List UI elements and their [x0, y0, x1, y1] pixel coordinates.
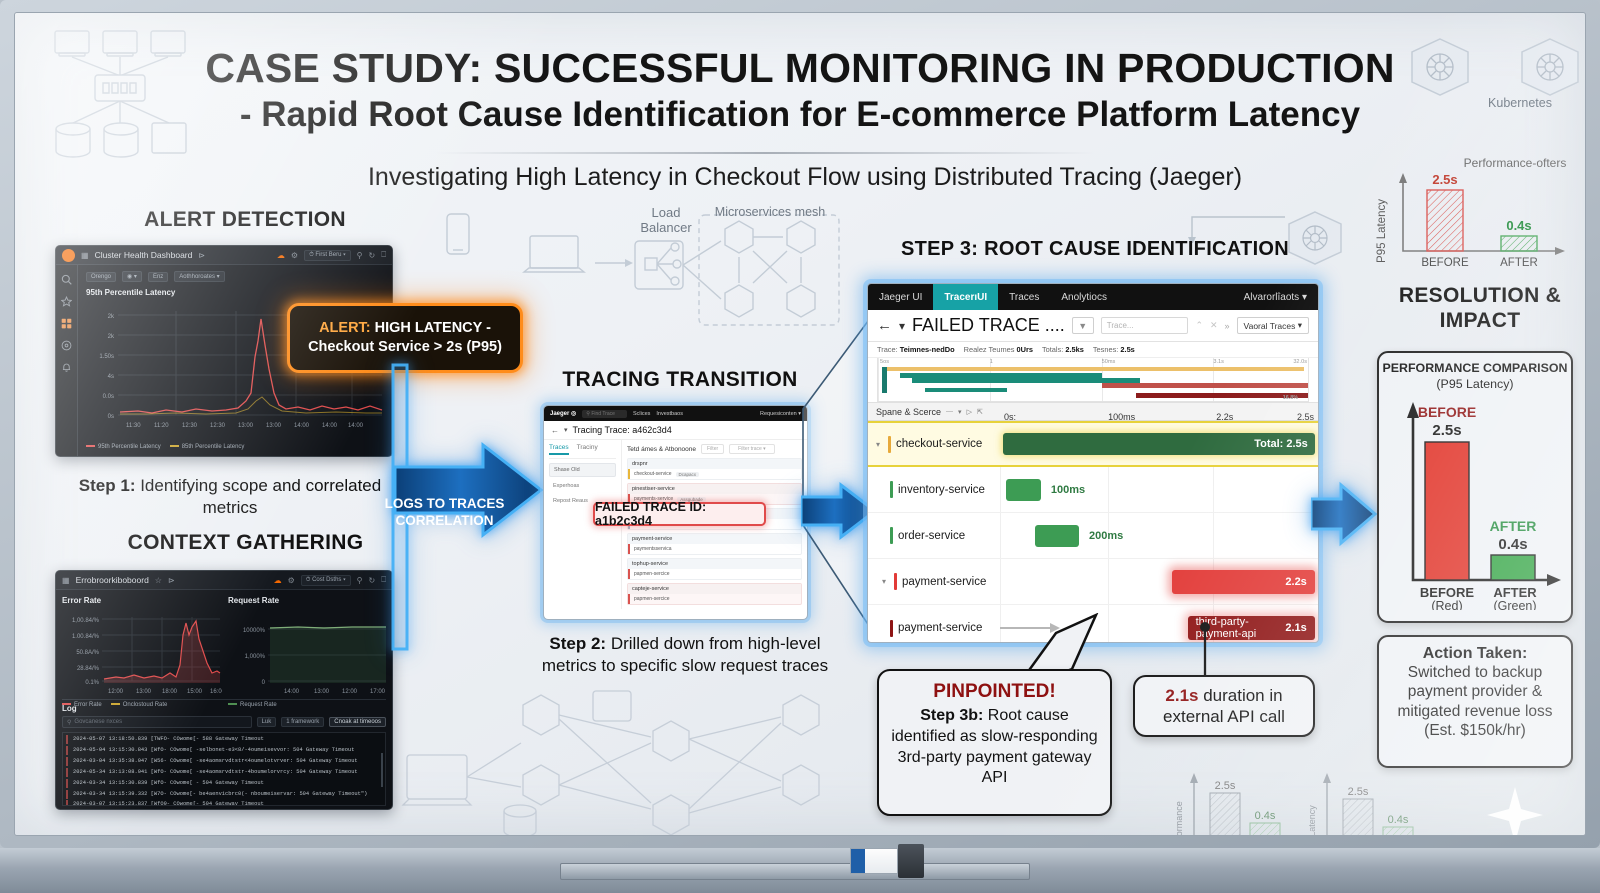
time-tick-1: 100ms: [1108, 412, 1135, 422]
star-icon[interactable]: [61, 294, 72, 305]
search-icon: ⚲: [67, 719, 71, 726]
time-range-picker[interactable]: ⏱ Cost Dsths ▾: [301, 575, 351, 586]
dashboard-sidebar[interactable]: [56, 265, 78, 456]
chevron-down-icon[interactable]: ▾: [876, 440, 883, 449]
panel-request-rate: Request Rate 10000% 1,000% 0 14:0013:00 …: [228, 596, 388, 708]
span-row-inventory[interactable]: inventory-service 100ms: [868, 467, 1318, 513]
legend-item-1: 85th Percentile Latency: [170, 444, 245, 450]
svg-text:13:00: 13:00: [314, 689, 330, 695]
alerting-icon[interactable]: [61, 360, 72, 371]
svg-text:2k: 2k: [108, 314, 115, 320]
chevron-down-icon[interactable]: ▾: [899, 319, 905, 333]
filter-icon[interactable]: ▼: [1072, 317, 1094, 334]
svg-text:BEFORE: BEFORE: [1418, 404, 1476, 420]
log-button-2[interactable]: Cnoak at timeoos: [329, 717, 386, 727]
svg-text:13:00: 13:00: [136, 689, 152, 695]
svg-text:2k: 2k: [108, 334, 115, 340]
svg-text:10000%: 10000%: [243, 628, 266, 634]
pinpointed-body: Step 3b: Root cause identified as slow-r…: [891, 706, 1098, 789]
grafana-logo-icon: [62, 249, 75, 262]
transition-subnav-0[interactable]: Shase Old: [549, 463, 616, 477]
section-tracing-transition: TRACING TRANSITION: [535, 368, 825, 392]
svg-text:0.4s: 0.4s: [1506, 218, 1531, 233]
span-label[interactable]: payment-service: [868, 620, 1000, 637]
column-header-label: Spane & Scerce: [876, 407, 941, 417]
span-connector-arrow: [1000, 622, 1062, 634]
resolution-bar-chart: BEFORE 2.5s AFTER 0.4s BEFORE AFTER (Red…: [1379, 392, 1573, 610]
span-bar: 2.2s: [1172, 570, 1315, 594]
prev-icon[interactable]: ⌃: [1195, 320, 1203, 331]
minimap-bar-span: [882, 367, 887, 393]
time-range-picker[interactable]: ⏱ First Beru ▾: [304, 250, 351, 261]
log-line: 2024-03-07 13:15:23.837 [WfO9- COwome[- …: [66, 800, 382, 806]
transition-account[interactable]: Requesiconten ▾: [760, 411, 801, 417]
section-resolution: RESOLUTION &IMPACT: [1355, 283, 1586, 333]
dashboard-filters[interactable]: Orengo ◉ ▾ Enz Aothhoroates ▾: [78, 265, 392, 286]
tab-analytics[interactable]: Anolytiocs: [1050, 284, 1118, 310]
jaeger-minimap[interactable]: 5os 1 50ms 3.1s 32.0s 16.8%: [877, 358, 1309, 402]
sparkle-icon: [1483, 783, 1547, 836]
step1-caption: Step 1: Identifying scope and correlated…: [65, 475, 395, 519]
jaeger-span-list[interactable]: ▾ checkout-service Total: 2.5s inventor: [868, 421, 1318, 643]
section-alert-detection: ALERT DETECTION: [95, 208, 395, 232]
cloud-icon[interactable]: ☁: [277, 251, 285, 260]
svg-text:15:00: 15:00: [187, 689, 203, 695]
transition-filterbar-label: Tetd ámes & Atbonoone: [627, 446, 696, 453]
svg-text:AFTER: AFTER: [1490, 518, 1537, 534]
title-divider: [435, 152, 1095, 154]
log-scrollbar[interactable]: [381, 753, 383, 787]
alert-line-1: ALERT: HIGH LATENCY -: [319, 319, 491, 338]
span-row-checkout[interactable]: ▾ checkout-service Total: 2.5s: [868, 421, 1318, 467]
duration-callout-text: 2.1s duration in external API call: [1145, 685, 1303, 728]
view-select[interactable]: Vaoral Traces ▾: [1237, 317, 1309, 334]
minimap-tick-2: 50ms: [1102, 359, 1116, 365]
transition-topbar: Jaeger ◎ ⚲ Find Trace Sclices Investbaos…: [544, 406, 807, 421]
log-search-input[interactable]: ⚲ Govcanese nxces: [62, 716, 252, 728]
chevron-down-icon[interactable]: ▾: [882, 577, 889, 586]
svg-text:50.8A/%: 50.8A/%: [76, 650, 99, 656]
chart-legend: 95th Percentile Latency 85th Percentile …: [86, 444, 384, 450]
request-rate-chart: 10000% 1,000% 0 14:0013:00 12:0017:00: [228, 605, 388, 697]
minimap-percent: 16.8%: [1283, 395, 1298, 401]
span-label[interactable]: ▾ checkout-service: [868, 436, 1000, 453]
svg-text:Performance: Performance: [1174, 801, 1184, 836]
duration-callout: 2.1s duration in external API call: [1133, 675, 1315, 737]
back-arrow-icon[interactable]: ←: [551, 426, 559, 435]
correlation-arrow-label: LOGS TO TRACESCORRELATION: [382, 496, 507, 530]
transition-subnav-1[interactable]: Experhoas: [549, 480, 616, 492]
jaeger-search-input[interactable]: Trace...: [1101, 317, 1189, 334]
time-tick-2: 2.2s: [1216, 412, 1233, 422]
zoom-icon[interactable]: ⚲: [357, 251, 363, 260]
marker[interactable]: [850, 848, 898, 874]
pinpointed-headline: PINPOINTED!: [891, 681, 1098, 703]
play-icon[interactable]: ▷: [967, 408, 972, 416]
minimap-bar-root: [882, 367, 1303, 371]
svg-text:14:00: 14:00: [284, 689, 300, 695]
jaeger-logo-label: Jaeger ◎: [550, 410, 576, 417]
panel-title-error-rate: Error Rate: [62, 596, 222, 605]
log-line: 2024-03-34 13:15:39.332 [W7O- COwome[- b…: [66, 790, 382, 799]
error-dashboard[interactable]: ▦ Errobroorkiboboord ☆ ⊳ ☁ ⚙ ⏱ Cost Dsth…: [55, 570, 393, 810]
cloud-icon[interactable]: ☁: [274, 576, 282, 585]
step2-caption: Step 2: Drilled down from high-level met…: [535, 633, 835, 678]
page-tagline: Investigating High Latency in Checkout F…: [215, 163, 1395, 192]
meta-realez: Realez Teumes 0Urs: [964, 345, 1033, 354]
span-bar: [1006, 479, 1041, 501]
search-icon[interactable]: [61, 272, 72, 283]
action-card-body: Switched to backup payment provider & mi…: [1388, 663, 1562, 741]
dash-icon[interactable]: —: [946, 408, 953, 415]
svg-text:(Red): (Red): [1431, 599, 1462, 610]
svg-text:0.1%: 0.1%: [85, 680, 99, 686]
tv-icon[interactable]: ⎕: [381, 575, 386, 585]
alert-line-2: Checkout Service > 2s (P95): [308, 338, 502, 357]
transition-row[interactable]: drspnr checkout-service Dcapacx: [627, 458, 802, 480]
svg-text:Performance-ofters: Performance-ofters: [1464, 156, 1567, 170]
svg-text:1.50s: 1.50s: [99, 354, 114, 360]
svg-text:1,000%: 1,000%: [245, 654, 266, 660]
log-line: 2024-05-04 13:15:30.843 [WfO- COwome[ -s…: [66, 746, 382, 755]
flow-arrow-right: [1311, 479, 1381, 549]
transition-nav-1[interactable]: Investbaos: [656, 411, 683, 417]
next-icon[interactable]: »: [1225, 321, 1230, 331]
page-subtitle: - Rapid Root Cause Identification for E-…: [175, 95, 1425, 135]
jaeger-column-header: Spane & Scerce — ▾ ▷ ⇱ 0s: 100ms 2.2s 2.…: [868, 402, 1318, 421]
svg-text:1,00.84/%: 1,00.84/%: [72, 618, 100, 624]
span-duration: 200ms: [1089, 530, 1123, 542]
transition-tab-traces[interactable]: Traces: [549, 444, 569, 455]
svg-text:2.5s: 2.5s: [1432, 422, 1461, 439]
filter-chip-settings[interactable]: ◉ ▾: [122, 271, 142, 282]
svg-text:BEFORE: BEFORE: [1420, 585, 1475, 600]
log-list[interactable]: 2024-05-07 13:18:50.839 [TWFO- COwome[- …: [62, 732, 386, 806]
svg-text:0.0s: 0.0s: [103, 394, 114, 400]
whiteboard-surface: LoadBalancer Microservices mesh Kubernet…: [14, 12, 1586, 836]
minimap-bar-span: [925, 388, 1007, 392]
account-menu[interactable]: Alvarorlîaots ▾: [1233, 284, 1318, 310]
span-row-third-party[interactable]: payment-service third-party-payment-api …: [868, 605, 1318, 643]
jaeger-trace-header: ← ▾ FAILED TRACE .... ▼ Trace... ⌃ ✕ » V…: [868, 310, 1318, 342]
latency-mini-chart: Latency 2.5s 0.4s BEFORE AFTER: [1293, 765, 1433, 836]
span-label[interactable]: order-service: [868, 527, 1000, 544]
svg-text:11:20: 11:20: [154, 423, 169, 429]
svg-text:0.4s: 0.4s: [1388, 814, 1409, 826]
svg-text:12:00: 12:00: [342, 689, 358, 695]
svg-text:BEFORE: BEFORE: [1421, 257, 1469, 269]
panel-error-rate: Error Rate 1,00.84/% 1.00.84/% 50.8A/% 2…: [62, 596, 222, 708]
transition-row[interactable]: capteje-service papmen-sercice: [627, 583, 802, 605]
svg-text:17:00: 17:00: [370, 689, 386, 695]
svg-text:14:00: 14:00: [294, 423, 310, 429]
svg-text:P95 Latency: P95 Latency: [1376, 199, 1388, 263]
span-bar: third-party-payment-api 2.1s: [1188, 616, 1315, 640]
svg-text:AFTER: AFTER: [1493, 585, 1537, 600]
log-button-1[interactable]: 1 framework: [281, 717, 324, 727]
tv-icon[interactable]: ⎕: [381, 250, 386, 260]
chevron-down-icon[interactable]: ▾: [958, 408, 962, 416]
svg-text:2.5s: 2.5s: [1215, 780, 1236, 792]
refresh-icon[interactable]: ↻: [368, 251, 375, 260]
dashboard-title: Cluster Health Dashboard: [95, 250, 193, 260]
action-taken-card: Action Taken: Switched to backup payment…: [1377, 635, 1573, 768]
whiteboard-tray: [0, 848, 1600, 893]
svg-text:14:00: 14:00: [348, 423, 364, 429]
section-context-gathering: CONTEXT GATHERING: [93, 531, 398, 555]
svg-text:13:00: 13:00: [266, 423, 282, 429]
log-line: 2024-05-07 13:18:50.839 [TWFO- COwome[- …: [66, 735, 382, 744]
tab-traces[interactable]: Traces: [998, 284, 1050, 310]
star-icon[interactable]: ☆: [155, 576, 162, 585]
share-icon[interactable]: ⊳: [198, 251, 205, 260]
transition-trace-header: ← ▾ Tracing Trace: a462c3d4: [544, 421, 807, 440]
jaeger-tabs[interactable]: Jaeger UI TracerıUI Traces Anolytiocs Al…: [868, 284, 1318, 310]
dashboard-topbar: ▦ Cluster Health Dashboard ⊳ ☁ ⚙ ⏱ First…: [56, 246, 392, 265]
minimap-tick-0: 5os: [880, 359, 889, 365]
settings-icon[interactable]: ⚙: [291, 251, 298, 260]
jaeger-trace-title: FAILED TRACE ....: [912, 315, 1065, 336]
minimap-tick-3: 3.1s: [1213, 359, 1224, 365]
section-step3: STEP 3: ROOT CAUSE IDENTIFICATION: [875, 238, 1315, 261]
explore-icon[interactable]: [61, 338, 72, 349]
tab-tracer-ui[interactable]: TracerıUI: [933, 284, 998, 310]
minimap-bar-span: [1102, 383, 1308, 388]
span-label[interactable]: inventory-service: [868, 481, 1000, 498]
share-icon[interactable]: ⊳: [168, 576, 175, 585]
reset-icon[interactable]: ⇱: [977, 408, 983, 416]
svg-text:11:30: 11:30: [126, 423, 141, 429]
log-title: Log: [62, 704, 386, 713]
panel-title-request-rate: Request Rate: [228, 596, 388, 605]
svg-text:0: 0: [262, 680, 266, 686]
svg-text:AFTER: AFTER: [1500, 257, 1538, 269]
span-bar: [1035, 525, 1080, 547]
microservices-mesh-label: Microservices mesh: [695, 205, 845, 219]
log-toolbar[interactable]: ⚲ Govcanese nxces Luk 1 framework Cnoak …: [62, 716, 386, 728]
log-line: 2024-05-34 13:13:08.941 [WfO- COwome[ -s…: [66, 768, 382, 777]
dashboard2-topbar: ▦ Errobroorkiboboord ☆ ⊳ ☁ ⚙ ⏱ Cost Dsth…: [56, 571, 392, 590]
span-row-order[interactable]: order-service 200ms: [868, 513, 1318, 559]
transition-row[interactable]: tophup-service papmen-sercice: [627, 558, 802, 580]
svg-text:12:30: 12:30: [182, 423, 198, 429]
transition-search-input[interactable]: ⚲ Find Trace: [582, 410, 627, 418]
error-rate-chart: 1,00.84/% 1.00.84/% 50.8A/% 28.84/% 0.1%…: [62, 605, 222, 697]
legend-item-0: 95th Percentile Latency: [86, 444, 161, 450]
time-tick-3: 2.5s: [1297, 412, 1314, 422]
svg-text:4s: 4s: [108, 374, 114, 380]
device-lineart: [433, 208, 503, 288]
jaeger-panel[interactable]: Jaeger UI TracerıUI Traces Anolytiocs Al…: [867, 283, 1319, 643]
svg-text:Latency: Latency: [1307, 805, 1317, 836]
grid-icon: ▦: [81, 251, 89, 260]
filter-chip-1[interactable]: Enz: [148, 272, 168, 282]
meta-tesnes: Tesnes: 2.5s: [1093, 345, 1135, 354]
span-label[interactable]: ▾ payment-service: [868, 573, 1000, 590]
transition-filter-select[interactable]: Filter trace ▾: [729, 444, 775, 454]
kubernetes-label: Kubernetes: [1455, 96, 1585, 110]
svg-text:1.00.84/%: 1.00.84/%: [72, 634, 100, 640]
performance-comparison-card: PERFORMANCE COMPARISON (P95 Latency) BEF…: [1377, 351, 1573, 623]
svg-text:12:30: 12:30: [210, 423, 226, 429]
back-arrow-icon[interactable]: ←: [877, 317, 892, 334]
resolution-card-title: PERFORMANCE COMPARISON (P95 Latency): [1379, 353, 1571, 392]
failed-trace-badge: FAILED TRACE ID: a1b2c3d4: [593, 502, 766, 526]
dashboard2-title: Errobroorkiboboord: [76, 575, 149, 585]
span-bar: Total: 2.5s: [1003, 433, 1315, 455]
meta-trace: Trace: Teimnes-nedDo: [877, 345, 955, 354]
minimap-tick-1: 1: [990, 359, 993, 365]
whiteboard-frame: LoadBalancer Microservices mesh Kubernet…: [0, 0, 1600, 848]
svg-text:2.5s: 2.5s: [1432, 172, 1457, 187]
transition-row[interactable]: payment-service paymentsservica: [627, 533, 802, 555]
tray-rail: [560, 863, 1030, 880]
flow-arrow-lineart: [1170, 203, 1290, 243]
panel-title-latency: 95th Percentile Latency: [86, 288, 384, 297]
svg-text:0.4s: 0.4s: [1498, 536, 1527, 553]
close-icon[interactable]: ✕: [1210, 320, 1218, 331]
minimap-bar-span: [900, 373, 1102, 378]
svg-text:0.4s: 0.4s: [1255, 810, 1276, 822]
svg-text:14:00: 14:00: [322, 423, 338, 429]
load-balancer-label: LoadBalancer: [631, 206, 701, 236]
span-duration: 100ms: [1051, 484, 1085, 496]
log-button-0[interactable]: Luk: [257, 717, 277, 727]
svg-text:28.84/%: 28.84/%: [77, 666, 100, 672]
minimap-bar-span: [912, 378, 1140, 383]
refresh-icon[interactable]: ↻: [368, 576, 375, 585]
transition-trace-title: Tracing Trace: a462c3d4: [573, 425, 672, 435]
filter-chip-0[interactable]: Orengo: [86, 272, 116, 282]
svg-text:12:00: 12:00: [108, 689, 124, 695]
transition-tab-tracing[interactable]: Traciny: [577, 444, 598, 455]
pinpointed-callout: PINPOINTED! Step 3b: Root cause identifi…: [877, 669, 1112, 816]
svg-text:18:00: 18:00: [162, 689, 178, 695]
performance-mini-chart: Performance 2.5s 0.4s BEFORE AFTER: [1160, 765, 1300, 836]
transition-filter-chip[interactable]: Filter: [701, 444, 724, 454]
log-line: 2024-03-34 13:15:30.839 [WfO- COwome[ - …: [66, 779, 382, 788]
svg-text:0s: 0s: [108, 414, 114, 420]
action-card-title: Action Taken:: [1388, 645, 1562, 663]
jaeger-trace-meta: Trace: Teimnes-nedDo Realez Teumes 0Urs …: [868, 342, 1318, 358]
minimap-tick-4: 32.0s: [1293, 359, 1307, 365]
alert-badge: ALERT: HIGH LATENCY - Checkout Service >…: [287, 303, 523, 373]
log-line: 2024-03-04 13:35:38.947 [W56- COwome[ -s…: [66, 757, 382, 766]
transition-nav-0[interactable]: Sclices: [633, 411, 650, 417]
laptop-lineart: [520, 228, 600, 298]
time-tick-0: 0s:: [1004, 412, 1016, 422]
settings-icon[interactable]: ⚙: [288, 576, 295, 585]
log-panel: Log ⚲ Govcanese nxces Luk 1 framework Cn…: [62, 699, 386, 804]
svg-text:(Green): (Green): [1493, 599, 1536, 610]
page-title: CASE STUDY: SUCCESSFUL MONITORING IN PRO…: [175, 45, 1425, 92]
svg-text:13:00: 13:00: [238, 423, 254, 429]
svg-text:2.5s: 2.5s: [1348, 786, 1369, 798]
tab-jaeger-ui[interactable]: Jaeger UI: [868, 284, 933, 310]
dashboards-icon[interactable]: [61, 316, 72, 327]
eraser[interactable]: [898, 844, 924, 878]
filter-chip-2[interactable]: Aothhoroates ▾: [174, 271, 224, 282]
span-row-payment[interactable]: ▾ payment-service 2.2s: [868, 559, 1318, 605]
meta-totals: Totals: 2.5ks: [1042, 345, 1084, 354]
zoom-icon[interactable]: ⚲: [357, 576, 363, 585]
chevron-down-icon[interactable]: ▾: [564, 426, 568, 434]
grid-icon: ▦: [62, 576, 70, 585]
svg-text:16:00: 16:00: [210, 689, 222, 695]
